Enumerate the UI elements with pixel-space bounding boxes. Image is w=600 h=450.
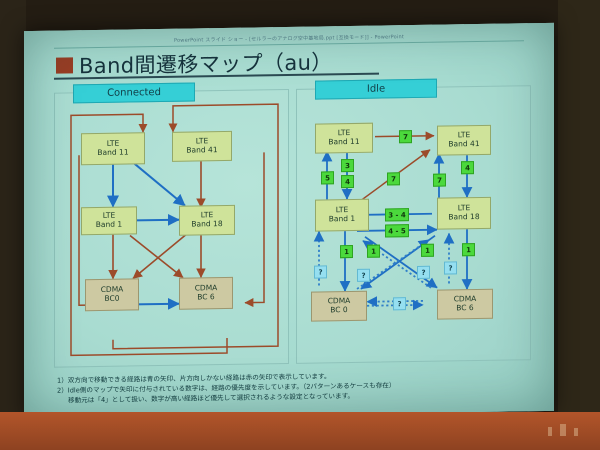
- dark-wall-left: [0, 0, 26, 450]
- node-lte-band-18: LTE Band 18: [437, 197, 491, 230]
- panel-idle: Idle: [296, 85, 531, 364]
- node-cdma-bc6: CDMA BC 6: [179, 277, 233, 310]
- desk-object-b: [560, 424, 566, 436]
- badge-unknown-bc0-diag: ?: [357, 269, 370, 282]
- node-line2: Band 1: [96, 221, 122, 230]
- badge-priority-b18-bc6: 1: [462, 243, 475, 256]
- projection-screen: PowerPoint スライド ショー - [セルラーのアナログ空中基地局.pp…: [24, 23, 554, 419]
- node-line2: BC 6: [197, 293, 214, 302]
- badge-priority-b11-to-41: 7: [399, 130, 412, 143]
- node-line2: Band 11: [97, 149, 128, 158]
- node-lte-band-1: LTE Band 1: [81, 206, 137, 235]
- badge-priority-b1-b11: 5: [321, 171, 334, 184]
- badge-priority-b11-b1-up: 4: [341, 175, 354, 188]
- node-line2: BC0: [104, 295, 119, 304]
- node-lte-band-1: LTE Band 1: [315, 199, 369, 232]
- badge-unknown-bc0-up: ?: [314, 265, 327, 278]
- node-line2: Band 41: [448, 140, 479, 149]
- badge-priority-b18-bc0: 1: [421, 244, 434, 257]
- badge-priority-b18-to-b1: 3 - 4: [385, 208, 409, 221]
- badge-priority-b1-to-b18: 4 - 5: [385, 224, 409, 237]
- badge-priority-b1-to-41: 7: [387, 172, 400, 185]
- footnotes: 1）双方向で移動できる経路は青の矢印、片方向しかない経路は赤の矢印で表示していま…: [57, 368, 537, 406]
- node-lte-band-41: LTE Band 41: [437, 125, 491, 156]
- badge-unknown-bc6-up: ?: [444, 261, 457, 274]
- powerpoint-titlebar-text: PowerPoint スライド ショー - [セルラーのアナログ空中基地局.pp…: [174, 33, 404, 44]
- slide-canvas: PowerPoint スライド ショー - [セルラーのアナログ空中基地局.pp…: [24, 23, 554, 419]
- node-cdma-bc0: CDMA BC 0: [311, 291, 367, 322]
- desk-object-c: [574, 428, 578, 436]
- table-surface: [0, 412, 600, 450]
- node-line2: Band 18: [191, 220, 222, 229]
- desk-objects: [548, 424, 578, 436]
- square-bullet-icon: [56, 57, 73, 73]
- badge-priority-b41-b18-a: 7: [433, 174, 446, 187]
- photo-of-projected-slide: PowerPoint スライド ショー - [セルラーのアナログ空中基地局.pp…: [0, 0, 600, 450]
- node-line2: Band 18: [448, 213, 479, 222]
- dark-wall-right: [558, 0, 600, 450]
- badge-priority-b41-b18-b: 4: [461, 161, 474, 174]
- node-line2: Band 41: [186, 146, 217, 155]
- node-cdma-bc6: CDMA BC 6: [437, 289, 493, 320]
- node-lte-band-41: LTE Band 41: [172, 131, 232, 162]
- node-lte-band-11: LTE Band 11: [81, 132, 145, 165]
- node-line2: BC 6: [456, 304, 473, 313]
- badge-priority-b1-bc0: 1: [340, 245, 353, 258]
- badge-unknown-bc0-bc6: ?: [393, 297, 406, 310]
- desk-object-a: [548, 427, 552, 436]
- badge-priority-b1-bc6: 1: [367, 245, 380, 258]
- node-line2: Band 1: [329, 215, 355, 224]
- badge-unknown-bc6-diag: ?: [417, 266, 430, 279]
- node-lte-band-18: LTE Band 18: [179, 205, 235, 236]
- node-line2: BC 0: [330, 306, 347, 315]
- node-lte-band-11: LTE Band 11: [315, 123, 373, 154]
- panel-connected: Connected: [54, 89, 289, 368]
- node-line2: Band 11: [328, 138, 359, 147]
- node-cdma-bc0: CDMA BC0: [85, 278, 139, 311]
- badge-priority-b11-b1-down: 3: [341, 159, 354, 172]
